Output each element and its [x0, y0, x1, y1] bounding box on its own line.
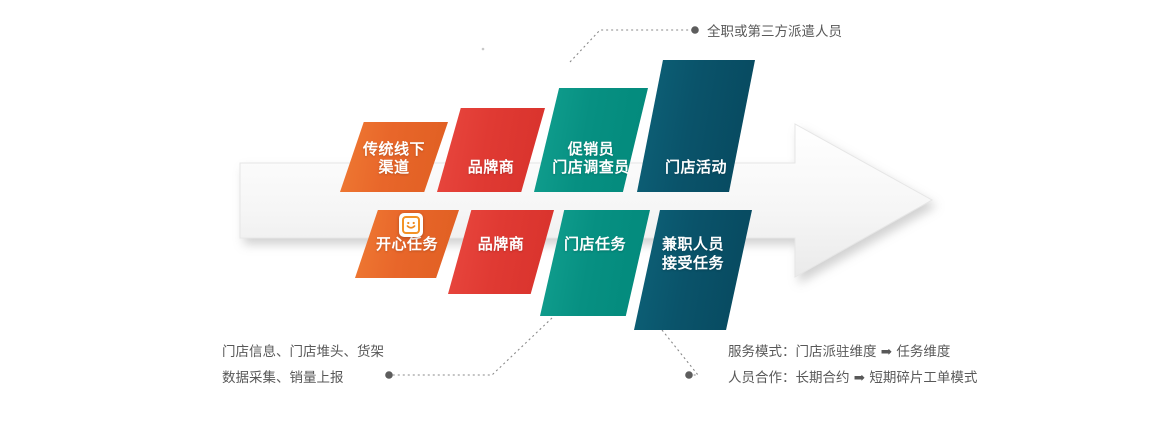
annotation-service-model-line-1: 服务模式：门店派驻维度 ➡ 任务维度: [728, 339, 977, 365]
smiley-icon: [402, 216, 420, 234]
diagram-canvas: 传统线下 渠道 品牌商 促销员 门店调查员 门店活动 开心任务 品牌商 门店任务…: [0, 0, 1150, 430]
annotation-staffing: 全职或第三方派遣人员: [707, 19, 842, 45]
stray-dot: [482, 48, 485, 51]
annotation-data-collection: 门店信息、门店堆头、货架 数据采集、销量上报: [222, 339, 384, 391]
step-chip-t3-label: 促销员 门店调查员: [552, 141, 630, 179]
step-chip-b2-label: 品牌商: [478, 236, 525, 255]
step-chip-b4-label: 兼职人员 接受任务: [662, 236, 724, 274]
step-chip-t1-label: 传统线下 渠道: [363, 141, 425, 179]
step-chip-t2-label: 品牌商: [468, 159, 515, 178]
annotation-data-collection-line-1: 门店信息、门店堆头、货架: [222, 339, 384, 365]
annotation-data-collection-line-2: 数据采集、销量上报: [222, 365, 384, 391]
annotation-staffing-line-1: 全职或第三方派遣人员: [707, 19, 842, 45]
connector-service-model: [662, 330, 698, 379]
smiley-logo: [399, 213, 423, 237]
connector-data-collection: [385, 318, 552, 379]
annotation-service-model-line-2: 人员合作：长期合约 ➡ 短期碎片工单模式: [728, 365, 977, 391]
step-chip-t4-label: 门店活动: [665, 159, 727, 178]
annotation-service-model: 服务模式：门店派驻维度 ➡ 任务维度 人员合作：长期合约 ➡ 短期碎片工单模式: [728, 339, 977, 391]
connector-staffing: [570, 26, 699, 62]
step-chip-b3-label: 门店任务: [564, 236, 626, 255]
step-chip-b1-label: 开心任务: [376, 236, 438, 255]
